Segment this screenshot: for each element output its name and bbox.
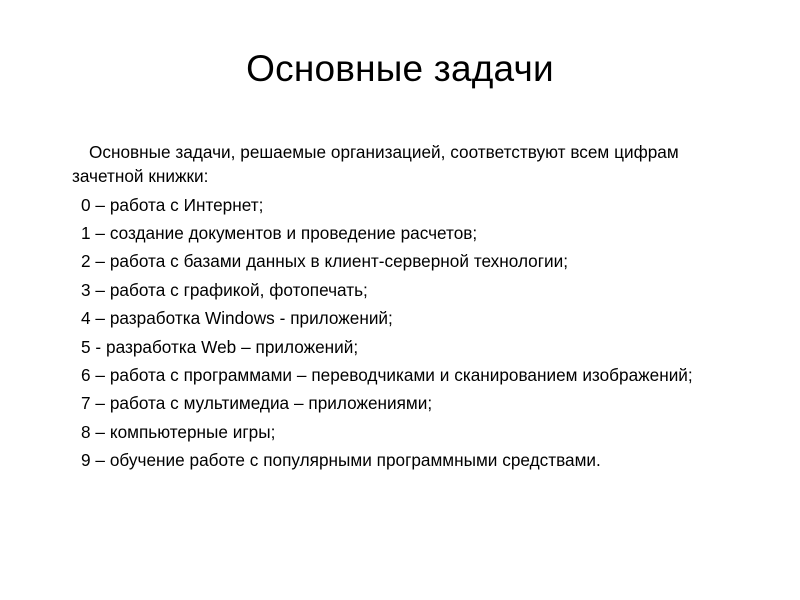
task-item-0: 0 – работа с Интернет; xyxy=(72,193,700,217)
slide-title: Основные задачи xyxy=(0,46,800,92)
task-item-9: 9 – обучение работе с популярными програ… xyxy=(72,448,700,472)
task-item-1: 1 – создание документов и проведение рас… xyxy=(72,221,700,245)
task-item-6: 6 – работа с программами – переводчиками… xyxy=(72,363,700,387)
task-item-2: 2 – работа с базами данных в клиент-серв… xyxy=(72,249,700,273)
task-item-7: 7 – работа с мультимедиа – приложениями; xyxy=(72,391,700,415)
task-item-4: 4 – разработка Windows - приложений; xyxy=(72,306,700,330)
task-item-5: 5 - разработка Web – приложений; xyxy=(72,335,700,359)
task-item-8: 8 – компьютерные игры; xyxy=(72,420,700,444)
presentation-slide: Основные задачи Основные задачи, решаемы… xyxy=(0,0,800,600)
intro-paragraph: Основные задачи, решаемые организацией, … xyxy=(72,140,700,188)
task-item-3: 3 – работа с графикой, фотопечать; xyxy=(72,278,700,302)
slide-body-text: Основные задачи, решаемые организацией, … xyxy=(72,140,700,472)
